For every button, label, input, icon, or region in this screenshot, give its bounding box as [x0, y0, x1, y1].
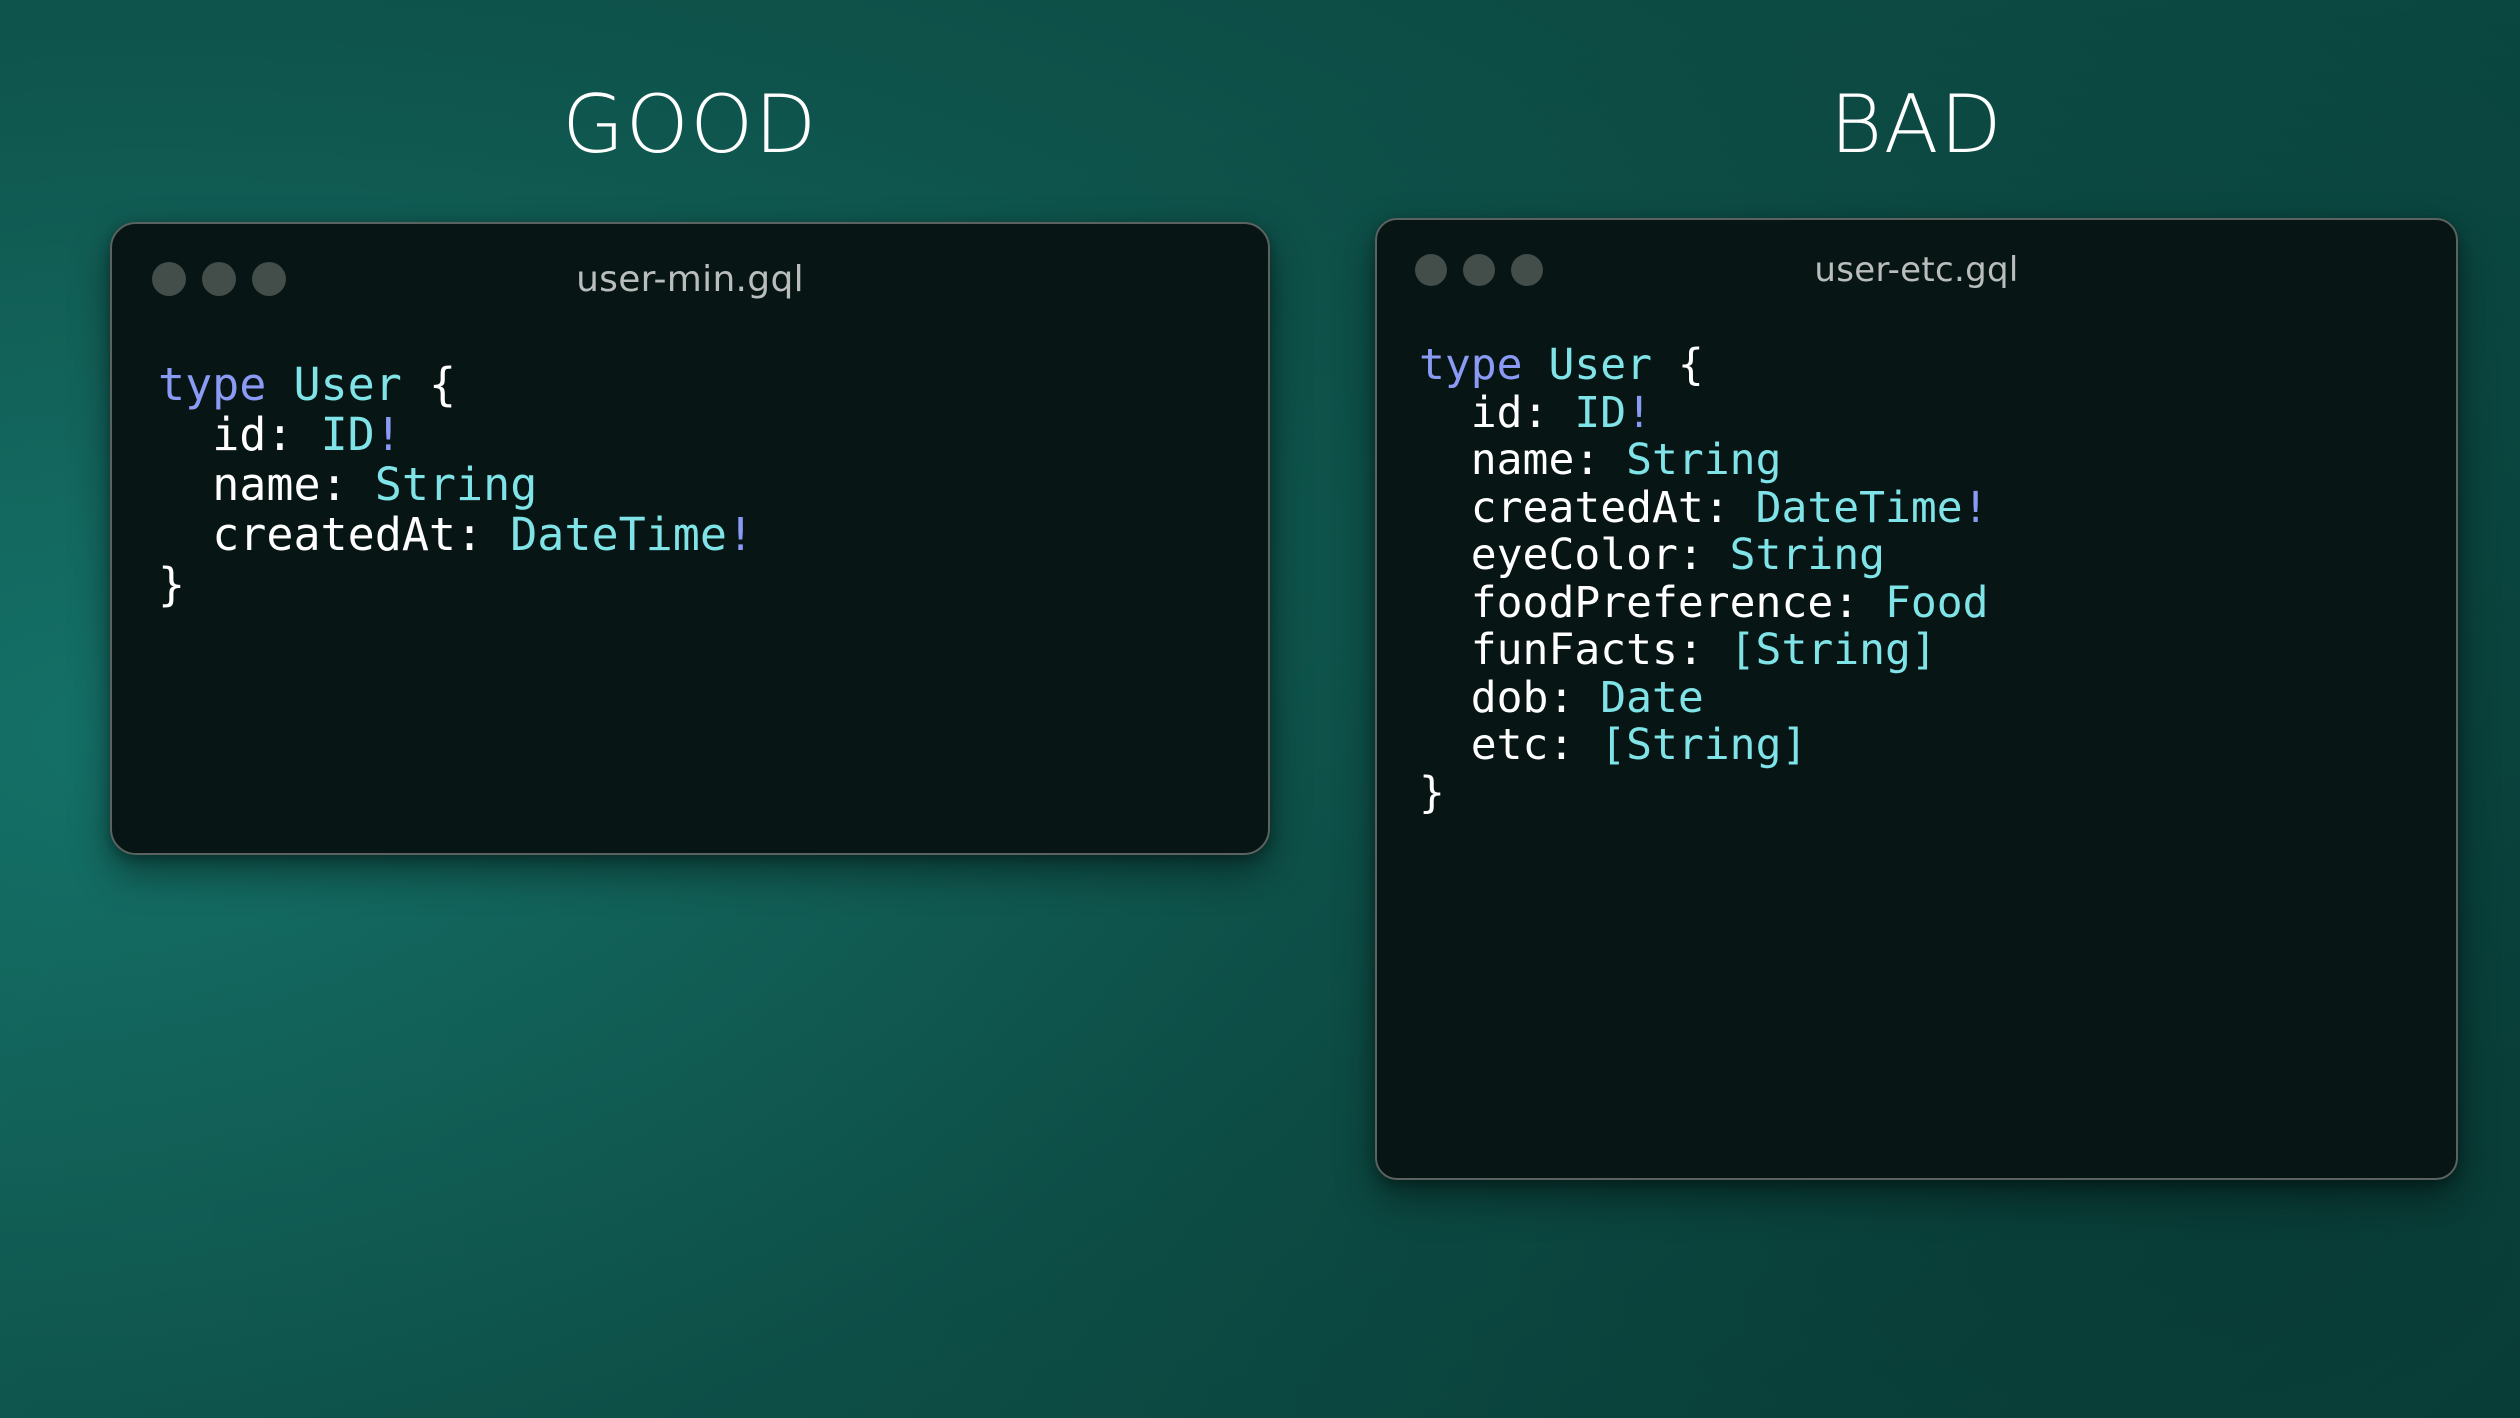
code-indent: [1419, 673, 1471, 723]
code-line: id: ID!: [1419, 390, 2456, 438]
code-space: [402, 358, 429, 411]
code-line: }: [158, 560, 1268, 610]
code-line: name: String: [158, 460, 1268, 510]
code-field-name: eyeColor: [1471, 530, 1678, 580]
code-non-null-marker: !: [1626, 388, 1652, 438]
code-colon: :: [1548, 720, 1600, 770]
code-field-name: createdAt: [212, 508, 456, 561]
code-field-type: String: [375, 458, 538, 511]
code-window-good: user-min.gql type User { id: ID! name: S…: [110, 222, 1270, 855]
code-line: }: [1419, 770, 2456, 818]
code-type-name: User: [1548, 340, 1652, 390]
minimize-dot-icon[interactable]: [202, 262, 236, 296]
code-field-name: id: [1471, 388, 1523, 438]
code-indent: [1419, 530, 1471, 580]
code-line: type User {: [1419, 342, 2456, 390]
code-indent: [1419, 720, 1471, 770]
maximize-dot-icon[interactable]: [1511, 254, 1543, 286]
code-space: [1523, 340, 1549, 390]
code-line: etc: [String]: [1419, 722, 2456, 770]
code-field-name: foodPreference: [1471, 578, 1833, 628]
comparison-canvas: GOOD user-min.gql type User { id: ID! na…: [0, 0, 2520, 1418]
code-close-brace: }: [1419, 768, 1445, 818]
code-colon: :: [1548, 673, 1600, 723]
code-keyword: type: [1419, 340, 1523, 390]
close-dot-icon[interactable]: [152, 262, 186, 296]
window-titlebar-good: user-min.gql: [112, 224, 1268, 334]
code-field-type: [String]: [1600, 720, 1807, 770]
code-field-type: Food: [1885, 578, 1989, 628]
code-space: [266, 358, 293, 411]
code-line: createdAt: DateTime!: [158, 510, 1268, 560]
code-field-type: String: [1626, 435, 1781, 485]
code-colon: :: [456, 508, 510, 561]
code-colon: :: [1678, 625, 1730, 675]
code-colon: :: [1833, 578, 1885, 628]
code-colon: :: [1704, 483, 1756, 533]
code-indent: [1419, 625, 1471, 675]
code-colon: :: [1574, 435, 1626, 485]
minimize-dot-icon[interactable]: [1463, 254, 1495, 286]
code-field-type: String: [1730, 530, 1885, 580]
code-block-good: type User { id: ID! name: String created…: [112, 334, 1268, 610]
code-non-null-marker: !: [727, 508, 754, 561]
code-field-type: DateTime: [1756, 483, 1963, 533]
code-field-name: createdAt: [1471, 483, 1704, 533]
code-field-type: Date: [1600, 673, 1704, 723]
code-line: createdAt: DateTime!: [1419, 485, 2456, 533]
code-field-type: ID: [1574, 388, 1626, 438]
window-titlebar-bad: user-etc.gql: [1377, 220, 2456, 320]
maximize-dot-icon[interactable]: [252, 262, 286, 296]
code-field-type: [String]: [1730, 625, 1937, 675]
code-type-name: User: [293, 358, 401, 411]
code-indent: [1419, 435, 1471, 485]
code-indent: [1419, 578, 1471, 628]
code-line: id: ID!: [158, 410, 1268, 460]
code-block-bad: type User { id: ID! name: String created…: [1377, 320, 2456, 817]
code-field-name: dob: [1471, 673, 1549, 723]
code-colon: :: [1678, 530, 1730, 580]
code-field-type: ID: [321, 408, 375, 461]
code-open-brace: {: [429, 358, 456, 411]
code-field-name: name: [1471, 435, 1575, 485]
code-line: dob: Date: [1419, 675, 2456, 723]
code-non-null-marker: !: [375, 408, 402, 461]
code-line: name: String: [1419, 437, 2456, 485]
code-field-name: funFacts: [1471, 625, 1678, 675]
code-indent: [158, 458, 212, 511]
code-indent: [158, 408, 212, 461]
code-line: funFacts: [String]: [1419, 627, 2456, 675]
close-dot-icon[interactable]: [1415, 254, 1447, 286]
code-field-type: DateTime: [510, 508, 727, 561]
code-colon: :: [321, 458, 375, 511]
code-line: eyeColor: String: [1419, 532, 2456, 580]
code-line: foodPreference: Food: [1419, 580, 2456, 628]
code-line: type User {: [158, 360, 1268, 410]
code-field-name: name: [212, 458, 320, 511]
code-indent: [1419, 483, 1471, 533]
code-indent: [158, 508, 212, 561]
code-close-brace: }: [158, 558, 185, 611]
code-field-name: id: [212, 408, 266, 461]
code-open-brace: {: [1678, 340, 1704, 390]
column-heading-good: GOOD: [110, 85, 1270, 165]
code-colon: :: [266, 408, 320, 461]
code-space: [1652, 340, 1678, 390]
code-indent: [1419, 388, 1471, 438]
column-heading-bad: BAD: [1375, 85, 2458, 165]
code-field-name: etc: [1471, 720, 1549, 770]
code-keyword: type: [158, 358, 266, 411]
code-non-null-marker: !: [1963, 483, 1989, 533]
code-colon: :: [1523, 388, 1575, 438]
window-controls-good: [152, 262, 286, 296]
window-controls-bad: [1415, 254, 1543, 286]
code-window-bad: user-etc.gql type User { id: ID! name: S…: [1375, 218, 2458, 1180]
